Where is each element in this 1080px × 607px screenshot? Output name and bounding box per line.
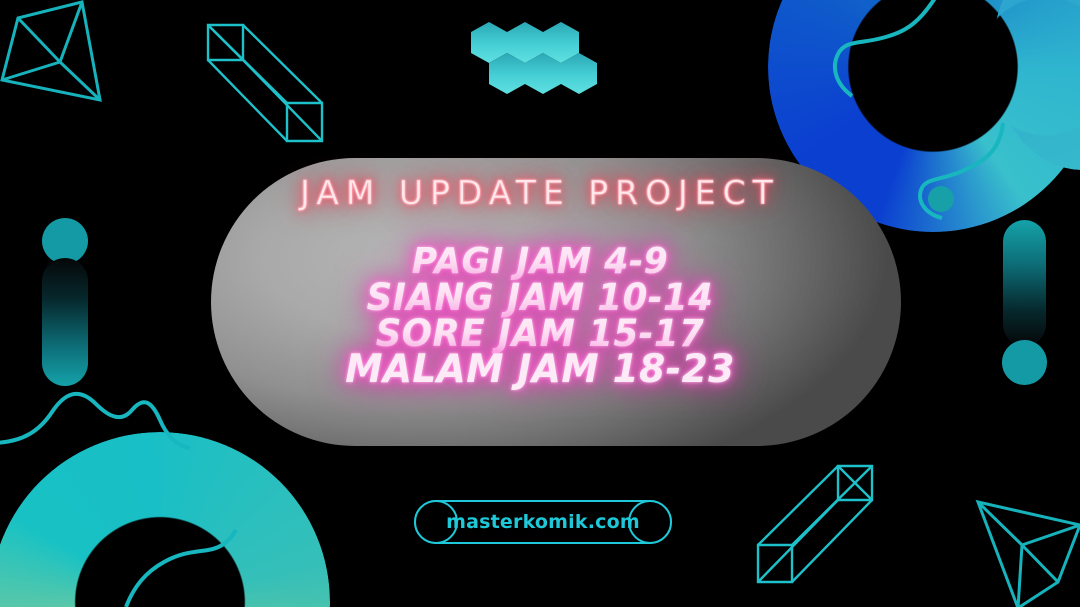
wireframe-tetrahedron-bottom-right-icon: [978, 502, 1080, 607]
schedule-line-siang: SIANG JAM 10-14: [22, 280, 1059, 316]
wireframe-box-top-left-icon: [208, 25, 322, 141]
schedule-list: PAGI JAM 4-9 SIANG JAM 10-14 SORE JAM 15…: [0, 244, 1080, 388]
wireframe-tetrahedron-top-left-icon: [2, 2, 100, 100]
poster-canvas: JAM UPDATE PROJECT PAGI JAM 4-9 SIANG JA…: [0, 0, 1080, 607]
url-badge-text[interactable]: masterkomik.com: [414, 500, 672, 544]
hexagon-cluster-top-center-icon: [471, 22, 597, 94]
wireframe-box-bottom-right-icon: [758, 466, 872, 582]
lime-donut-bottom-left-shape: [0, 432, 330, 607]
page-title: JAM UPDATE PROJECT: [0, 173, 1080, 212]
schedule-line-pagi: PAGI JAM 4-9: [22, 244, 1059, 280]
schedule-line-malam: MALAM JAM 18-23: [22, 352, 1059, 388]
